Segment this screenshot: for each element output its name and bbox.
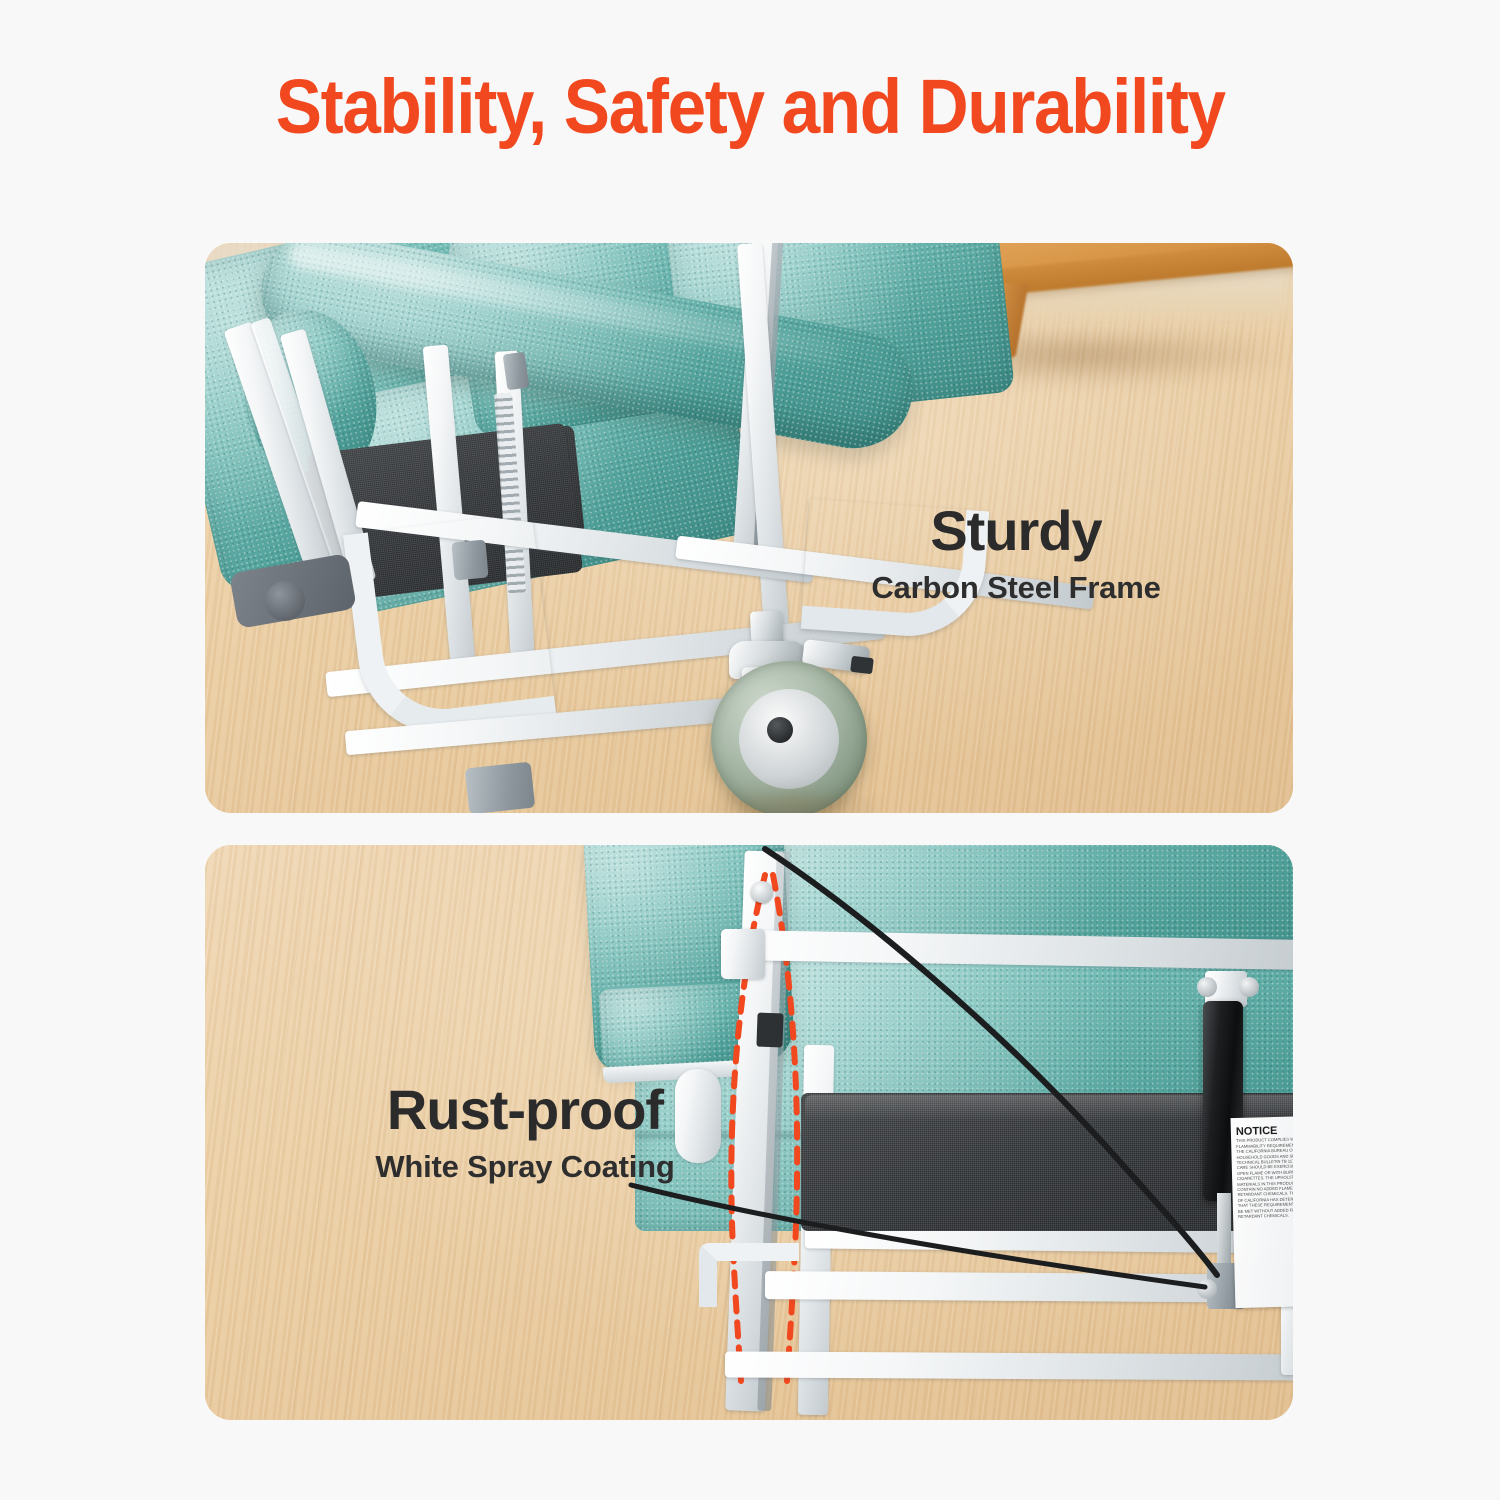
rust-proof-caption-subtitle: White Spray Coating	[260, 1150, 790, 1183]
recline-release-knob	[265, 581, 305, 621]
warning-tag-heading: NOTICE	[1236, 1128, 1293, 1135]
page-title: Stability, Safety and Durability	[275, 69, 1224, 146]
sturdy-caption: Sturdy Carbon Steel Frame	[801, 501, 1231, 605]
warning-tag: NOTICE THIS PRODUCT COMPLIES WITH THE FL…	[1231, 1116, 1293, 1308]
sturdy-panel: Sturdy Carbon Steel Frame	[205, 243, 1293, 813]
rust-proof-caption-title: Rust-proof	[260, 1080, 790, 1140]
caster-axle-bolt	[767, 717, 793, 743]
sturdy-caption-subtitle: Carbon Steel Frame	[801, 571, 1231, 604]
sturdy-caption-title: Sturdy	[801, 501, 1231, 561]
frame-glide-foot	[465, 762, 535, 813]
release-cable-secondary	[625, 1175, 1245, 1305]
warning-tag-body: THIS PRODUCT COMPLIES WITH THE FLAMMABIL…	[1236, 1136, 1293, 1219]
frame-floor-rail-2	[725, 1351, 1293, 1380]
caster-brake-pedal[interactable]	[850, 656, 874, 675]
caster-wheel-shadow	[697, 791, 887, 813]
rust-proof-panel: NOTICE THIS PRODUCT COMPLIES WITH THE FL…	[205, 845, 1293, 1420]
rust-proof-caption: Rust-proof White Spray Coating	[260, 1080, 790, 1184]
headline-bar: Stability, Safety and Durability	[0, 0, 1500, 215]
frame-bracket-plate	[451, 540, 488, 581]
